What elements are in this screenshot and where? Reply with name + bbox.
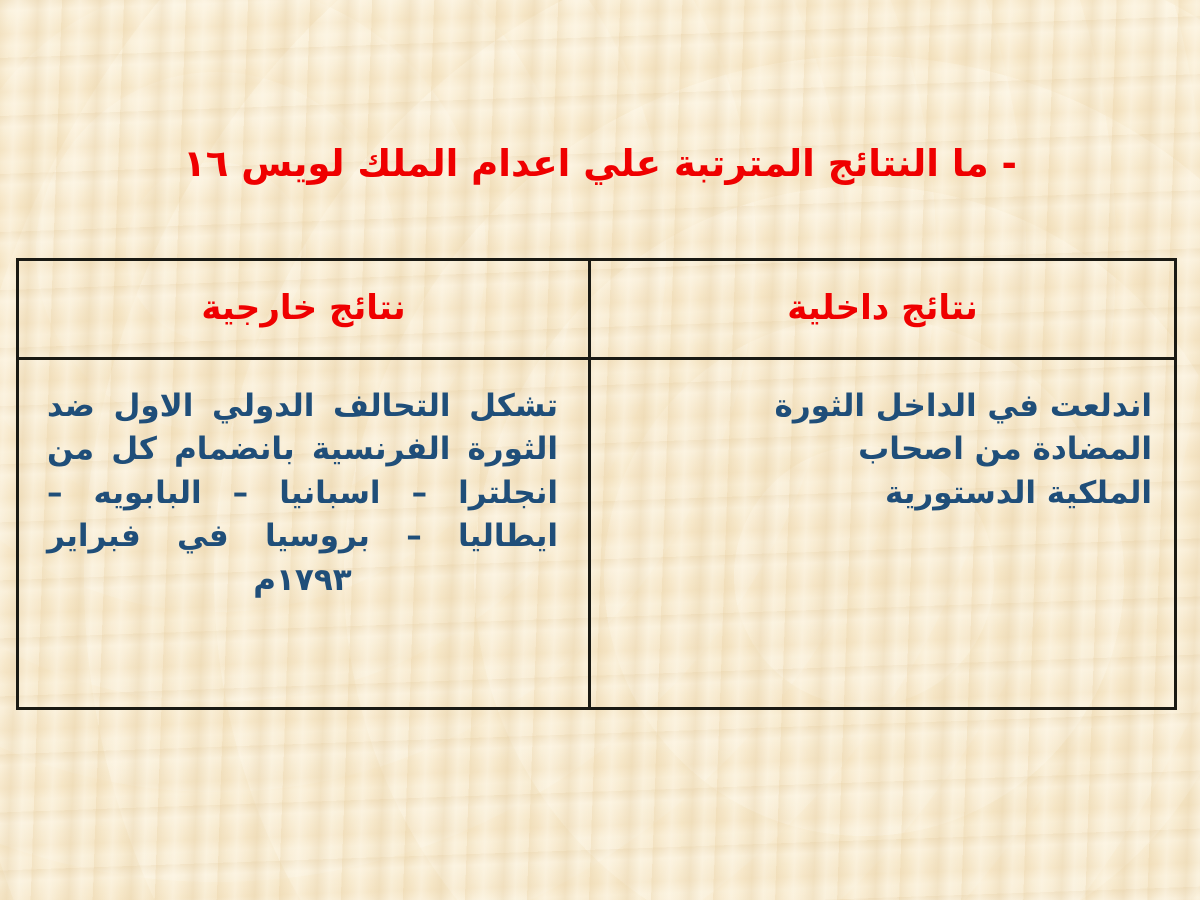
header-label-external: نتائج خارجية — [19, 261, 588, 357]
table-body-row: اندلعت في الداخل الثورة المضادة من اصحاب… — [18, 359, 1176, 709]
body-cell-internal: اندلعت في الداخل الثورة المضادة من اصحاب… — [590, 359, 1176, 709]
body-text-external: تشكل التحالف الدولي الاول ضد الثورة الفر… — [19, 360, 588, 602]
slide-title: - ما النتائج المترتبة علي اعدام الملك لو… — [22, 143, 1178, 184]
slide-canvas: - ما النتائج المترتبة علي اعدام الملك لو… — [0, 0, 1200, 900]
header-label-internal: نتائج داخلية — [591, 261, 1174, 357]
header-cell-external: نتائج خارجية — [18, 260, 590, 359]
body-text-internal: اندلعت في الداخل الثورة المضادة من اصحاب… — [591, 360, 1174, 515]
results-table: نتائج داخلية نتائج خارجية اندلعت في الدا… — [16, 258, 1177, 710]
header-cell-internal: نتائج داخلية — [590, 260, 1176, 359]
body-cell-external: تشكل التحالف الدولي الاول ضد الثورة الفر… — [18, 359, 590, 709]
table-header-row: نتائج داخلية نتائج خارجية — [18, 260, 1176, 359]
